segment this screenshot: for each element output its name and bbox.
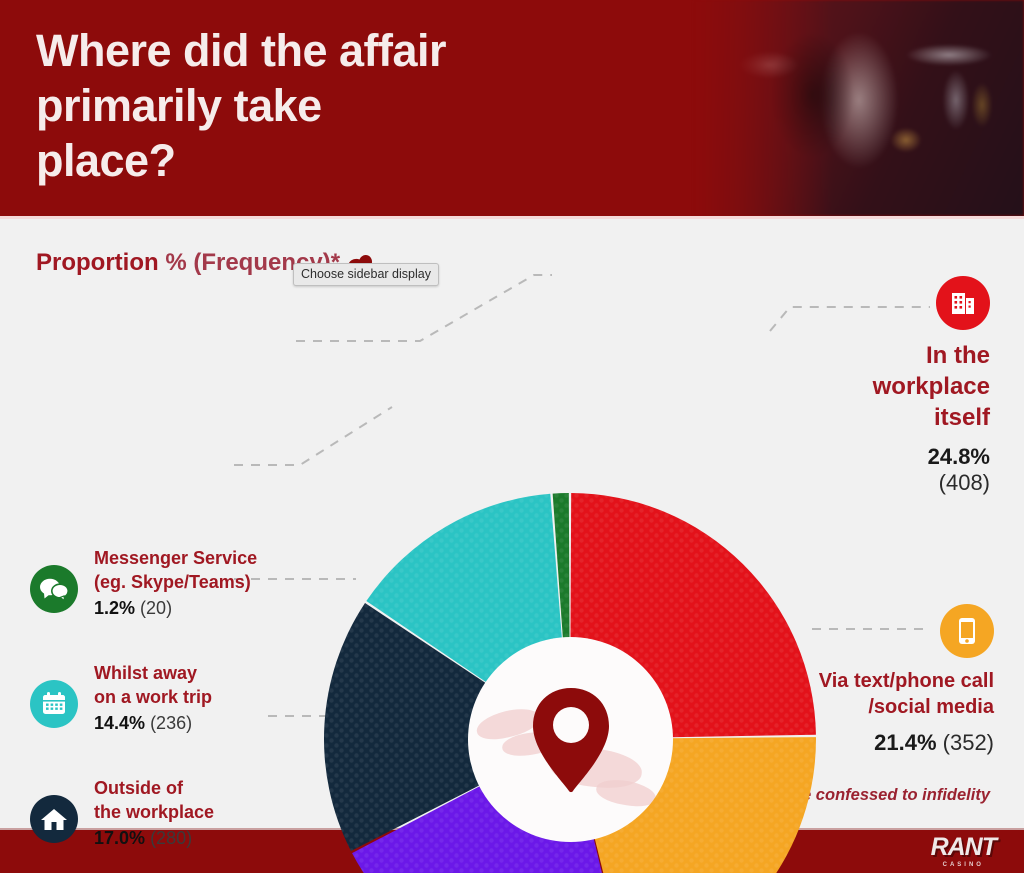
label-via-text-phone[interactable]: Via text/phone call /social media 21.4% … [714,604,994,756]
house-icon-circle [30,795,78,843]
label-in-the-workplace[interactable]: In the workplace itself 24.8% (408) [750,276,990,496]
legend-frequency: (280) [150,828,192,848]
calendar-icon [40,690,68,718]
chart-panel: Proportion % (Frequency)* [0,216,1024,828]
logo-subtext: CASINO [931,862,996,868]
label-title: Via text/phone call /social media [714,668,994,720]
label-frequency: (408) [939,470,990,495]
legend-percent: 1.2% [94,598,135,618]
legend-value: 1.2% (20) [94,598,257,619]
house-icon [40,806,68,832]
map-pin-icon [525,684,617,796]
label-frequency-row: (408) [750,470,990,496]
legend-text: Whilst away on a work trip 14.4% (236) [94,662,212,734]
label-title: In the workplace itself [750,340,990,434]
proportion-label-bold: Proportion [36,249,159,276]
legend-value: 17.0% (280) [94,828,214,849]
legend-text: Messenger Service (eg. Skype/Teams) 1.2%… [94,547,257,619]
legend-value: 14.4% (236) [94,713,212,734]
header-banner: Where did the affair primarily take plac… [0,0,1024,216]
legend-percent: 17.0% [94,828,145,848]
office-building-icon-circle [936,276,990,330]
legend-frequency: (236) [150,713,192,733]
page-title: Where did the affair primarily take plac… [36,24,466,189]
legend-item-messenger-service[interactable]: Messenger Service (eg. Skype/Teams) 1.2%… [30,547,257,619]
legend-title: Messenger Service (eg. Skype/Teams) [94,547,257,595]
header-photo-couple-office [694,0,1024,216]
label-percent: 24.8% [928,444,990,469]
legend-percent: 14.4% [94,713,145,733]
messenger-chat-icon [39,577,69,601]
calendar-icon-circle [30,680,78,728]
messenger-chat-icon-circle [30,565,78,613]
legend-item-outside-workplace[interactable]: Outside of the workplace 17.0% (280) [30,777,214,849]
legend-title: Whilst away on a work trip [94,662,212,710]
label-frequency: (352) [943,730,994,755]
infographic-page: Where did the affair primarily take plac… [0,0,1024,873]
donut-center-hub [468,637,673,842]
logo-wordmark: RANT [931,835,996,860]
legend-text: Outside of the workplace 17.0% (280) [94,777,214,849]
smartphone-icon-circle [940,604,994,658]
legend-item-work-trip[interactable]: Whilst away on a work trip 14.4% (236) [30,662,212,734]
legend-frequency: (20) [140,598,172,618]
tooltip-choose-sidebar-display: Choose sidebar display [293,263,439,286]
office-building-icon [949,290,977,316]
label-value: 24.8% [750,444,990,470]
smartphone-icon [956,616,978,646]
label-percent: 21.4% [874,730,936,755]
brand-logo[interactable]: RANT CASINO [931,835,996,868]
legend-title: Outside of the workplace [94,777,214,825]
label-value: 21.4% (352) [714,730,994,756]
